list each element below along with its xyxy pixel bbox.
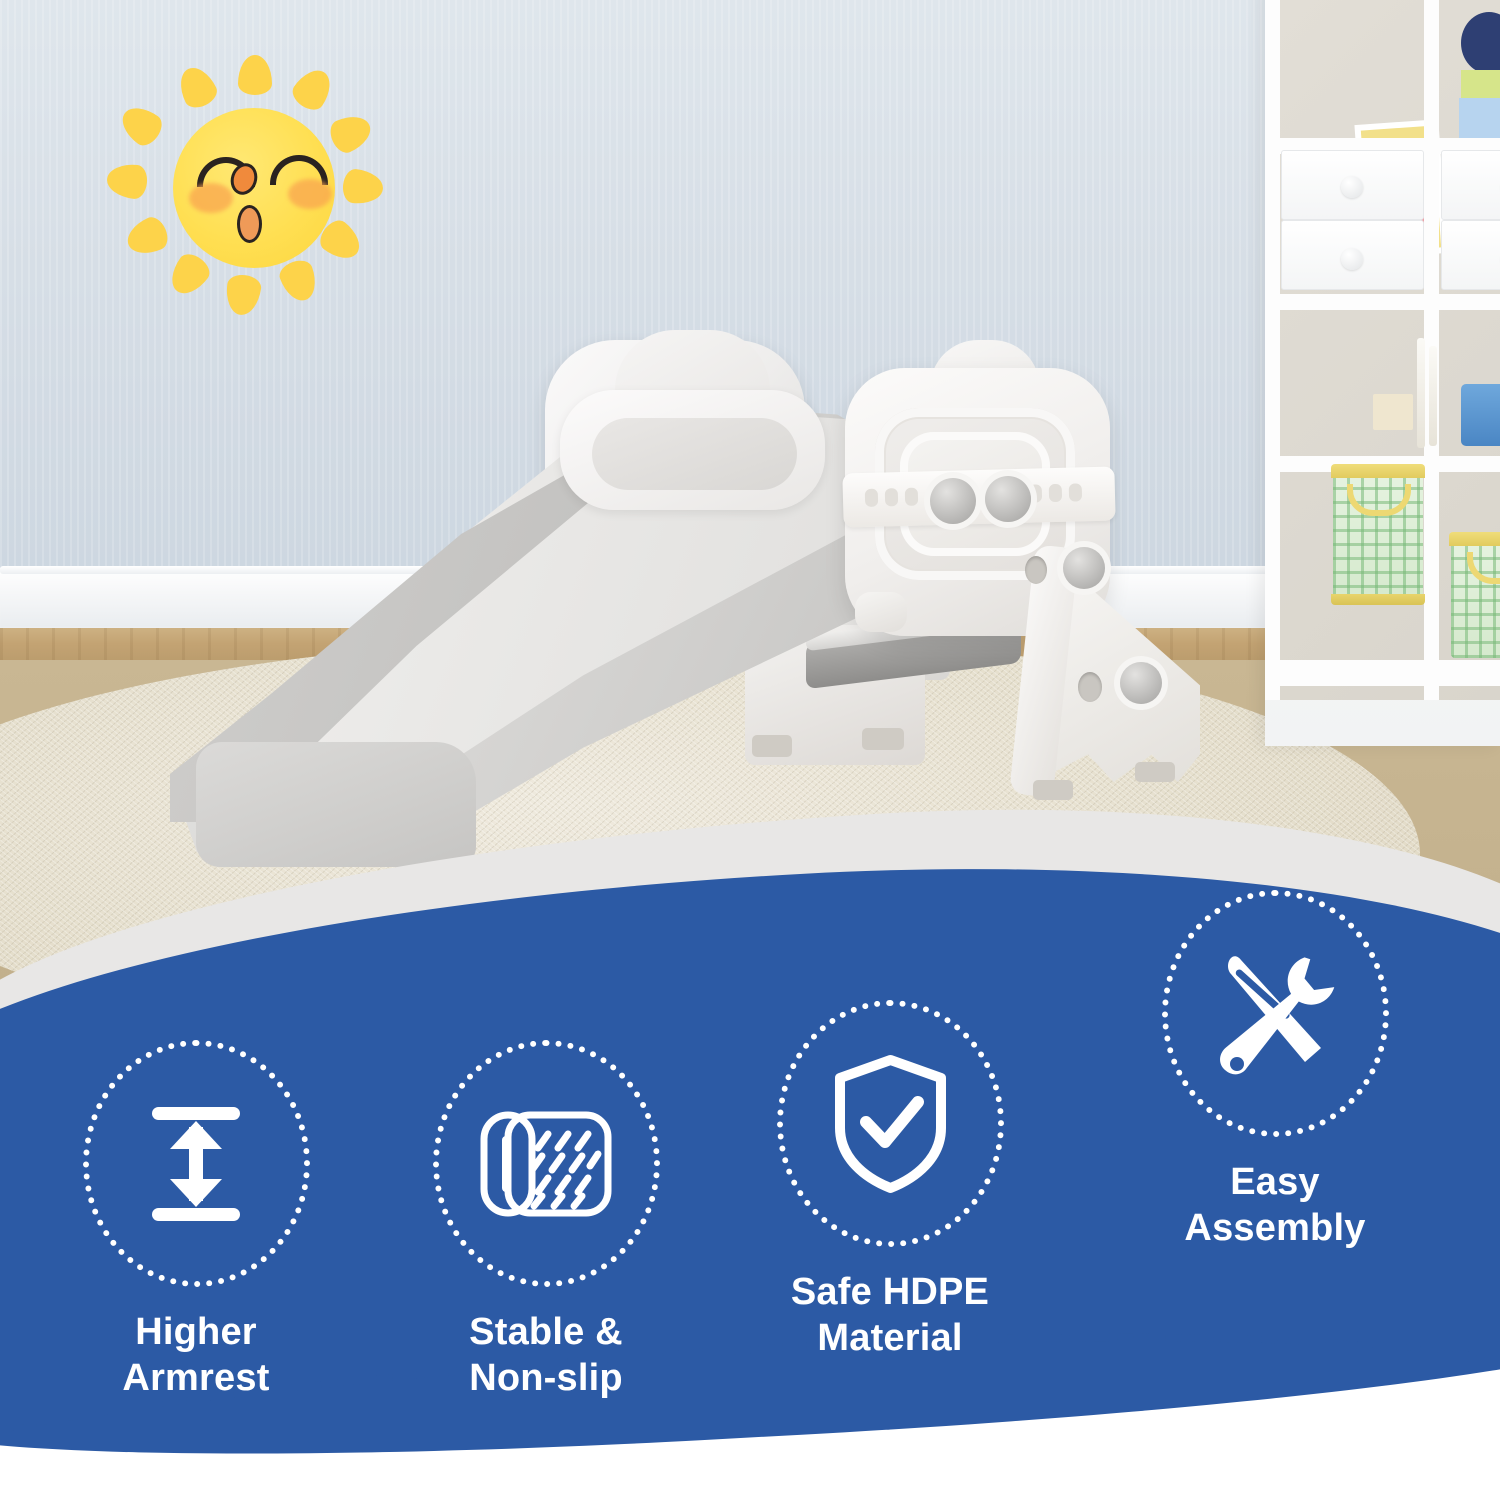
slide-foot (752, 735, 792, 757)
slide-bolt (985, 476, 1031, 522)
height-arrow-icon (136, 1099, 256, 1229)
strap-slot (865, 489, 878, 507)
feature-label: EasyAssembly (1125, 1159, 1425, 1252)
slide-side-strap (842, 466, 1115, 527)
blue-storage-bin (1461, 384, 1500, 446)
drawer-knob (1341, 248, 1363, 270)
sun-ray (326, 109, 376, 156)
shelf-stick (1417, 338, 1425, 448)
slide-armrest-inner (592, 418, 797, 490)
slide-bolt (1063, 547, 1105, 589)
shelf-side-left (1265, 0, 1280, 700)
slide-screw-hole (1025, 556, 1047, 584)
feature-easy-assembly[interactable]: EasyAssembly (1125, 890, 1425, 1252)
feature-stable-non-slip[interactable]: Stable &Non-slip (396, 1040, 696, 1402)
sun-ray (115, 99, 167, 150)
sun-ray (288, 63, 339, 115)
sun-ray (163, 249, 214, 301)
drawer-knob (1341, 176, 1363, 198)
slide-foot (862, 728, 904, 750)
non-slip-mat-icon (476, 1108, 616, 1220)
feature-icon-ring (83, 1040, 310, 1287)
strap-slot (1049, 484, 1062, 502)
feature-label: Stable &Non-slip (396, 1309, 696, 1402)
slide-screw-hole (1078, 672, 1102, 702)
strap-slot (905, 488, 918, 506)
shield-check-icon (828, 1054, 953, 1194)
sun-ray (276, 256, 322, 305)
wrench-screwdriver-icon (1205, 944, 1345, 1084)
infographic-canvas: HigherArmrest Stable &Non-slip (0, 0, 1500, 1500)
feature-icon-ring (1162, 890, 1389, 1137)
shelf-stick (1429, 346, 1437, 446)
feature-label: HigherArmrest (46, 1309, 346, 1402)
sun-ray (238, 55, 272, 95)
basket-base (1331, 594, 1425, 605)
shelf-divider (1265, 294, 1500, 310)
sun-ray (173, 62, 221, 113)
sun-mouth (237, 205, 262, 243)
slide-bolt (930, 478, 976, 524)
basket-rim (1449, 532, 1500, 546)
drawer (1441, 220, 1500, 290)
strap-slot (1069, 483, 1082, 501)
feature-label: Safe HDPEMaterial (740, 1269, 1040, 1362)
sun-sticker (110, 55, 380, 320)
sun-ray (223, 273, 262, 317)
feature-safe-hdpe-material[interactable]: Safe HDPEMaterial (740, 1000, 1040, 1362)
drawer (1441, 150, 1500, 220)
slide-bolt (1120, 662, 1162, 704)
wall-art-sky (1459, 98, 1500, 140)
sun-ray (105, 162, 148, 200)
bookshelf (1265, 0, 1500, 746)
shelf-box (1373, 394, 1413, 430)
sun-ray (341, 168, 384, 206)
basket-rim (1331, 464, 1425, 478)
shelf-base (1265, 660, 1500, 686)
sun-blush-right (288, 179, 332, 209)
feature-higher-armrest[interactable]: HigherArmrest (46, 1040, 346, 1402)
strap-slot (885, 488, 898, 506)
sun-blush-left (189, 183, 233, 213)
wall-art-lime (1461, 70, 1500, 100)
feature-icon-ring (433, 1040, 660, 1287)
sun-ray (122, 213, 172, 260)
slide-side-nub (855, 592, 907, 632)
feature-icon-ring (777, 1000, 1004, 1247)
